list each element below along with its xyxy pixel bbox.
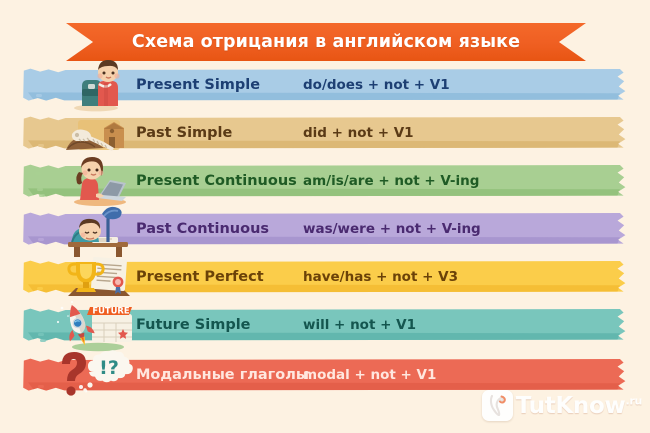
- tutknow-badge-icon: [482, 390, 513, 421]
- brush-fleck: [36, 78, 42, 81]
- row-illustration: !?: [52, 346, 140, 404]
- svg-text:FUTURE: FUTURE: [92, 305, 129, 315]
- brush-fleck: [37, 188, 43, 191]
- svg-text:!?: !?: [99, 357, 119, 379]
- brush-fleck: [39, 194, 45, 197]
- title-ribbon-shape: Схема отрицания в английском языке: [66, 23, 586, 61]
- brush-fleck: [36, 94, 42, 97]
- brush-fleck: [35, 172, 41, 175]
- brush-fleck: [40, 72, 46, 75]
- infographic-page: Схема отрицания в английском языке: [0, 0, 650, 433]
- brush-fleck: [38, 333, 44, 336]
- watermark-tld: .ru: [625, 394, 642, 407]
- watermark-text: TutKnow.ru: [516, 393, 642, 419]
- brush-fleck: [37, 287, 43, 290]
- brush-fleck: [35, 369, 41, 372]
- question-mark-and-thought-bubble-icon: !?: [52, 346, 140, 404]
- tooth-swirl-icon: [482, 390, 513, 421]
- brush-fleck: [35, 317, 41, 320]
- brush-fleck: [40, 339, 46, 342]
- brush-fleck: [36, 272, 42, 275]
- brush-fleck: [38, 385, 44, 388]
- watermark-logo: TutKnow.ru: [482, 390, 642, 421]
- brush-fleck: [36, 128, 42, 131]
- brush-fleck: [36, 222, 42, 225]
- title-banner: Схема отрицания в английском языке: [66, 23, 586, 61]
- watermark-name: TutKnow: [516, 393, 626, 419]
- tense-row: FUTURE: [0, 302, 650, 352]
- page-title: Схема отрицания в английском языке: [132, 32, 520, 52]
- brush-fleck: [38, 238, 44, 241]
- brush-fleck: [38, 144, 44, 147]
